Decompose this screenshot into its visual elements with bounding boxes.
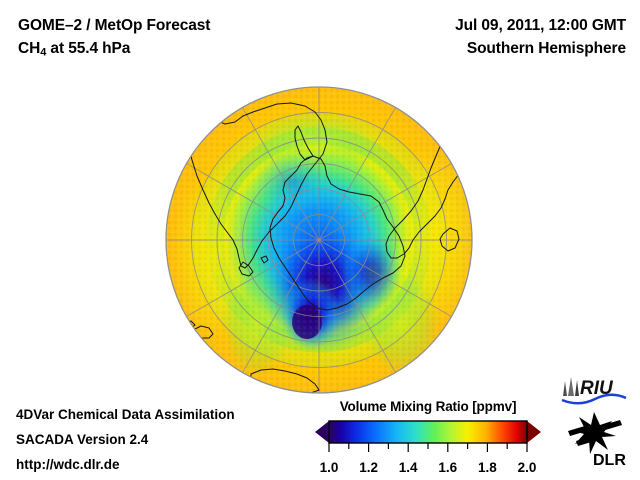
colorbar-tick-label: 1.2 [359, 460, 378, 475]
species-prefix: CH [18, 40, 40, 57]
colorbar-title: Volume Mixing Ratio [ppmv] [312, 399, 544, 414]
datetime-label: Jul 09, 2011, 12:00 GMT [455, 14, 626, 37]
colorbar-ramp [329, 421, 527, 443]
footer-text: 4DVar Chemical Data Assimilation SACADA … [16, 402, 235, 477]
species-title: CH4 at 55.4 hPa [18, 37, 210, 64]
colorbar-tick-labels: 1.01.21.41.61.82.0 [312, 460, 544, 478]
header-right: Jul 09, 2011, 12:00 GMT Southern Hemisph… [455, 14, 626, 60]
instrument-title: GOME–2 / MetOp Forecast [18, 14, 210, 37]
colorbar: Volume Mixing Ratio [ppmv] 1.01.21.41.61… [312, 399, 544, 478]
visualization-page: GOME–2 / MetOp Forecast CH4 at 55.4 hPa … [0, 0, 640, 480]
dlr-logo-text: DLR [593, 452, 626, 469]
region-label: Southern Hemisphere [455, 37, 626, 60]
colorbar-tick-label: 1.8 [478, 460, 497, 475]
riu-logo-svg: RIU [559, 374, 629, 406]
colorbar-svg [312, 418, 544, 454]
globe-svg [165, 86, 473, 394]
colorbar-tick-label: 1.4 [399, 460, 418, 475]
footer-line-2: SACADA Version 2.4 [16, 427, 235, 452]
footer-line-1: 4DVar Chemical Data Assimilation [16, 402, 235, 427]
riu-tower-icon [563, 377, 579, 396]
colorbar-bar-holder [312, 418, 544, 459]
riu-logo: RIU [559, 374, 629, 406]
south-pole-marker [317, 238, 320, 241]
species-suffix: at 55.4 hPa [46, 40, 130, 57]
header-left: GOME–2 / MetOp Forecast CH4 at 55.4 hPa [18, 14, 210, 64]
colorbar-tick-label: 2.0 [518, 460, 537, 475]
dlr-logo: DLR [564, 411, 630, 469]
colorbar-cap-high [527, 421, 541, 443]
dlr-logo-svg: DLR [564, 411, 630, 469]
colorbar-tick-label: 1.6 [438, 460, 457, 475]
footer-line-3: http://wdc.dlr.de [16, 452, 235, 477]
colorbar-tick-label: 1.0 [320, 460, 339, 475]
globe-map [165, 86, 473, 394]
colorbar-cap-low [315, 421, 329, 443]
dlr-mark-icon [568, 412, 622, 454]
colorbar-ticks [329, 443, 527, 452]
